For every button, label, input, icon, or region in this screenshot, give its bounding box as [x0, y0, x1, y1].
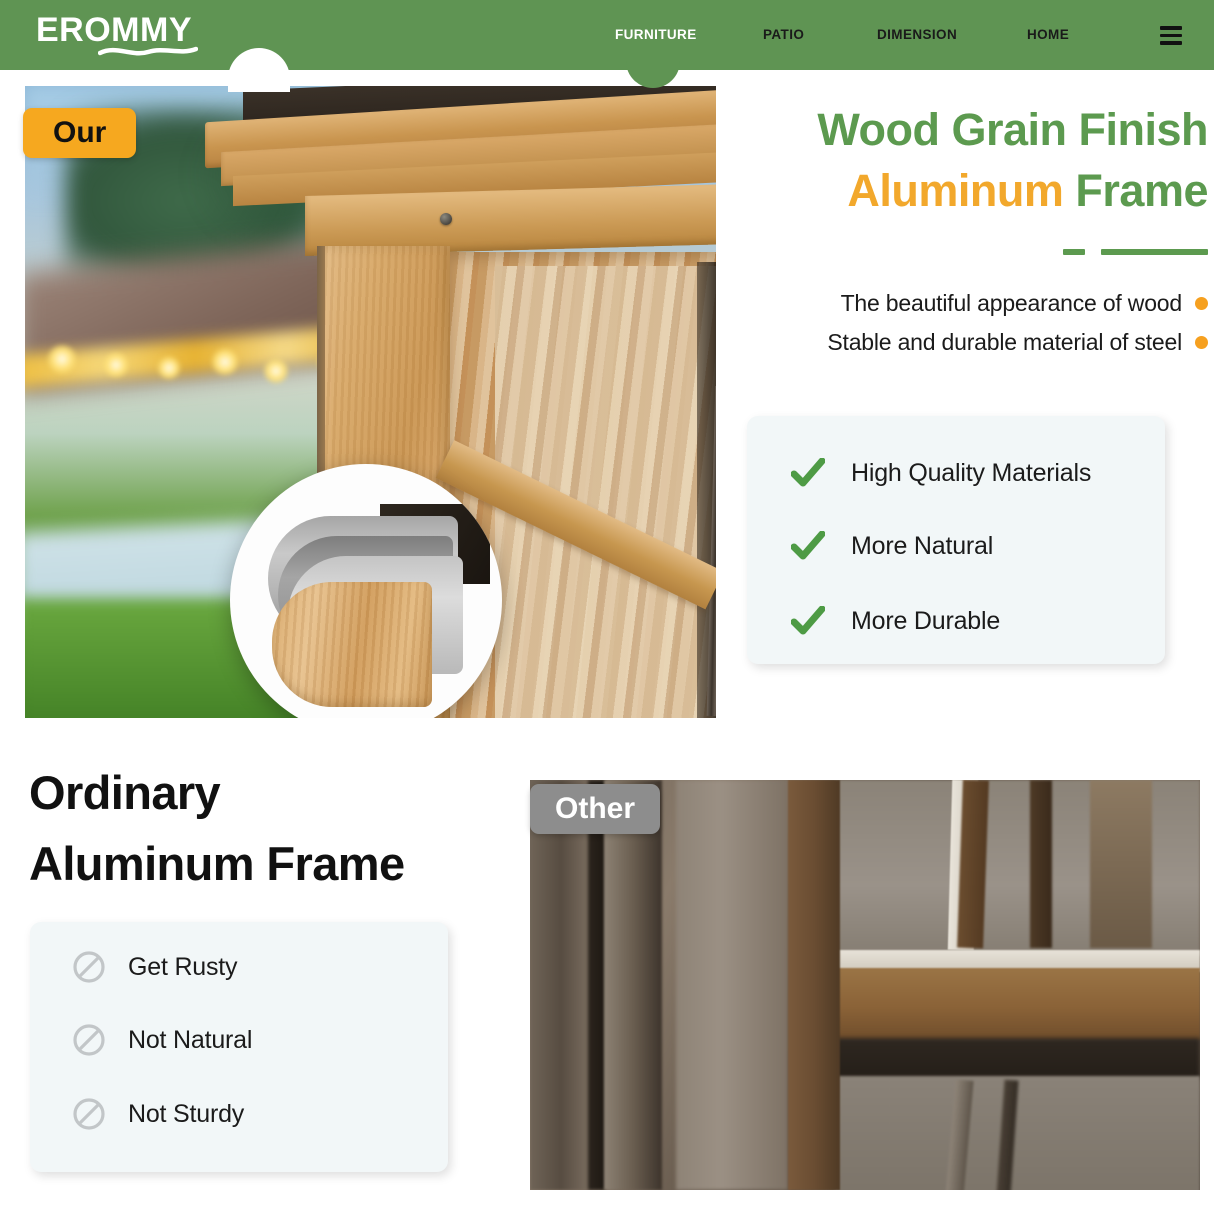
photo-light-bulb: [47, 344, 77, 374]
photo-window-stile: [788, 780, 840, 1190]
benefit-bullet-row: Stable and durable material of steel: [716, 329, 1208, 356]
advantage-label: High Quality Materials: [851, 459, 1091, 488]
drawback-item: Not Natural: [72, 1023, 252, 1057]
benefit-bullet-text: Stable and durable material of steel: [827, 329, 1182, 356]
drawback-label: Not Sturdy: [128, 1100, 244, 1129]
photo-light-bulb: [103, 352, 129, 378]
drawback-item: Get Rusty: [72, 950, 237, 984]
brand-logo[interactable]: EROMMY: [36, 11, 236, 59]
ordinary-heading-line-2: Aluminum Frame: [29, 828, 549, 899]
photo-light-bulb: [157, 356, 181, 380]
green-check-icon: [791, 531, 825, 561]
material-layers-callout: [230, 464, 502, 718]
headline-frame-word: Frame: [1075, 165, 1208, 216]
divider-dash: [1063, 249, 1085, 255]
ordinary-heading-line-1: Ordinary: [29, 757, 549, 828]
callout-wood-grain-layer: [272, 582, 432, 707]
green-check-icon: [791, 606, 825, 636]
photo-wood-post: [604, 780, 662, 1190]
our-badge: Our: [23, 108, 136, 158]
ordinary-heading: Ordinary Aluminum Frame: [29, 757, 549, 899]
drawback-item: Not Sturdy: [72, 1097, 244, 1131]
photo-light-bulb: [263, 358, 289, 384]
header-green-tab-decoration: [626, 52, 680, 88]
advantage-label: More Durable: [851, 607, 1000, 636]
advantage-item: More Natural: [791, 531, 993, 561]
other-product-photo: [530, 780, 1200, 1190]
nav-item-patio[interactable]: PATIO: [763, 27, 804, 42]
benefit-bullet-text: The beautiful appearance of wood: [841, 290, 1182, 317]
nav-item-furniture[interactable]: FURNITURE: [615, 27, 697, 42]
photo-wood-block: [1090, 780, 1152, 948]
headline-divider: [1063, 248, 1208, 256]
photo-light-bulb: [211, 348, 239, 376]
headline-line-1: Wood Grain Finish: [716, 100, 1208, 160]
benefit-bullet-row: The beautiful appearance of wood: [716, 290, 1208, 317]
drawback-label: Get Rusty: [128, 953, 237, 982]
other-badge: Other: [530, 784, 660, 834]
prohibition-circle-slash-icon: [72, 950, 106, 984]
main-navigation: FURNITURE PATIO DIMENSION HOME: [600, 0, 1160, 70]
green-check-icon: [791, 458, 825, 488]
prohibition-circle-slash-icon: [72, 1097, 106, 1131]
advantage-label: More Natural: [851, 532, 993, 561]
advantages-card: High Quality Materials More Natural More…: [747, 416, 1165, 664]
advantage-item: High Quality Materials: [791, 458, 1091, 488]
photo-screw: [440, 213, 452, 225]
bullet-dot-icon: [1195, 297, 1208, 310]
headline-line-2: Aluminum Frame: [716, 160, 1208, 222]
advantage-item: More Durable: [791, 606, 1000, 636]
nav-item-home[interactable]: HOME: [1027, 27, 1069, 42]
photo-wood-post: [676, 780, 788, 1190]
bullet-dot-icon: [1195, 336, 1208, 349]
photo-wood-post: [530, 780, 592, 1190]
drawback-label: Not Natural: [128, 1026, 252, 1055]
wave-swoosh-icon: [98, 44, 198, 58]
nav-item-dimension[interactable]: DIMENSION: [877, 27, 957, 42]
headline-aluminum-word: Aluminum: [847, 165, 1063, 216]
our-product-photo: [25, 86, 716, 718]
benefit-bullet-list: The beautiful appearance of wood Stable …: [716, 290, 1208, 368]
drawbacks-card: Get Rusty Not Natural Not Sturdy: [30, 922, 448, 1172]
product-comparison-page: EROMMY FURNITURE PATIO DIMENSION HOME: [0, 0, 1214, 1214]
photo-wood-slat: [1030, 780, 1052, 948]
divider-line: [1101, 249, 1208, 255]
site-header: EROMMY FURNITURE PATIO DIMENSION HOME: [0, 0, 1214, 70]
prohibition-circle-slash-icon: [72, 1023, 106, 1057]
headline-block: Wood Grain Finish Aluminum Frame: [716, 100, 1208, 222]
photo-shadow-band: [835, 1038, 1200, 1080]
photo-window-rail: [835, 968, 1200, 1040]
hamburger-menu-icon[interactable]: [1160, 26, 1182, 45]
